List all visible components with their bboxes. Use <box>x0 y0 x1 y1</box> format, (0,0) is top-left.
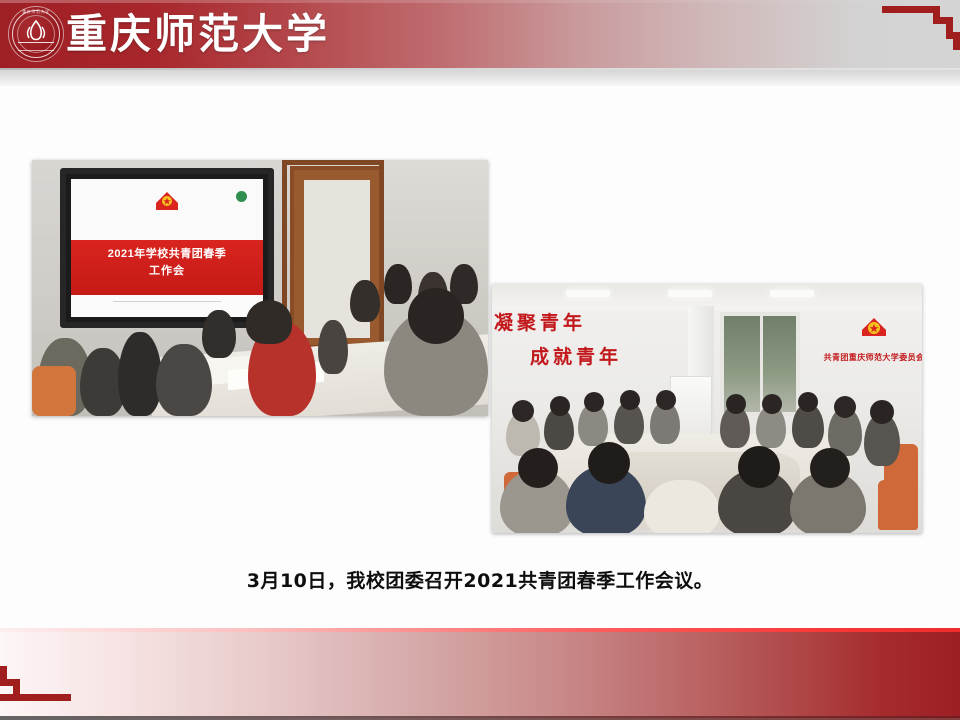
header-gloss <box>0 0 960 3</box>
footer-banner <box>0 632 960 718</box>
photo2-person-head <box>550 396 570 416</box>
photo1-chair <box>32 366 76 416</box>
photo1-person <box>318 320 348 374</box>
photo1-person-head <box>408 288 464 344</box>
photo2-ceiling-light <box>566 290 610 297</box>
photo1-slide-title-band: 2021年学校共青团春季 工作会 <box>71 240 263 295</box>
photo2-person-head <box>870 400 894 424</box>
photo1-person <box>350 280 380 322</box>
photo2-person-head <box>620 390 640 410</box>
photo2-person-head <box>584 392 604 412</box>
photo1-slide-lower <box>71 295 263 317</box>
photo2-person-head <box>834 396 856 418</box>
photo2-chair <box>878 480 918 530</box>
photo2-window-mullion <box>760 316 763 412</box>
photo2-wall-calligraphy-line1: 凝聚青年 <box>494 308 586 335</box>
photo2-ceiling-light <box>668 290 712 297</box>
conference-room-photo-with-wall-calligraphy[interactable]: 凝聚青年 成就青年 共青团重庆师范大学委员会 <box>492 284 922 533</box>
photo1-person <box>118 332 162 416</box>
photo2-person-head <box>738 446 780 488</box>
university-name-title: 重庆师范大学 <box>66 4 330 64</box>
communist-youth-league-emblem <box>857 314 891 344</box>
university-seal-logo: 重庆师范大学 <box>8 6 64 62</box>
footer-bottom-edge <box>0 716 960 720</box>
photo1-presentation-screen: 2021年学校共青团春季 工作会 <box>60 168 274 328</box>
seal-book-glyph <box>18 42 54 51</box>
photo2-person-head <box>518 448 558 488</box>
photo1-slide-title-line2: 工作会 <box>71 262 263 278</box>
chinese-meander-ornament-bottom-left <box>0 666 78 712</box>
slide-caption: 3月10日，我校团委召开2021共青团春季工作会议。 <box>0 566 960 593</box>
green-status-dot <box>236 191 247 202</box>
photo2-person-head <box>656 390 676 410</box>
photo1-person <box>202 310 236 358</box>
photo2-person-head <box>810 448 850 488</box>
presentation-slide: 重庆师范大学 重庆师范大学 <box>0 0 960 720</box>
communist-youth-league-emblem <box>152 189 182 215</box>
photo2-documents-foreground <box>644 480 720 533</box>
photo2-organization-sign-text: 共青团重庆师范大学委员会 <box>814 352 922 363</box>
photo2-person-head <box>726 394 746 414</box>
chinese-meander-ornament-top-right <box>882 6 960 50</box>
photo1-person <box>384 264 412 304</box>
seal-top-text: 重庆师范大学 <box>8 9 64 15</box>
photo2-person-head <box>512 400 534 422</box>
photo1-slide-rule <box>113 301 221 302</box>
photo1-screen-content: 2021年学校共青团春季 工作会 <box>71 179 263 317</box>
photo2-person-head <box>588 442 630 484</box>
photo2-organization-sign: 共青团重庆师范大学委员会 <box>814 312 922 392</box>
photo1-person-head <box>246 300 292 344</box>
photo2-wall-calligraphy-line2: 成就青年 <box>530 342 622 369</box>
photo1-slide-upper <box>71 179 263 240</box>
meeting-room-photo-with-presentation-screen[interactable]: 2021年学校共青团春季 工作会 <box>32 160 488 416</box>
photo2-ceiling-light <box>770 290 814 297</box>
photo1-slide-title-line1: 2021年学校共青团春季 <box>71 245 263 261</box>
header-shadow-strip <box>0 70 960 86</box>
photo2-person-head <box>762 394 782 414</box>
photo1-person <box>156 344 212 416</box>
photo2-person-head <box>798 392 818 412</box>
